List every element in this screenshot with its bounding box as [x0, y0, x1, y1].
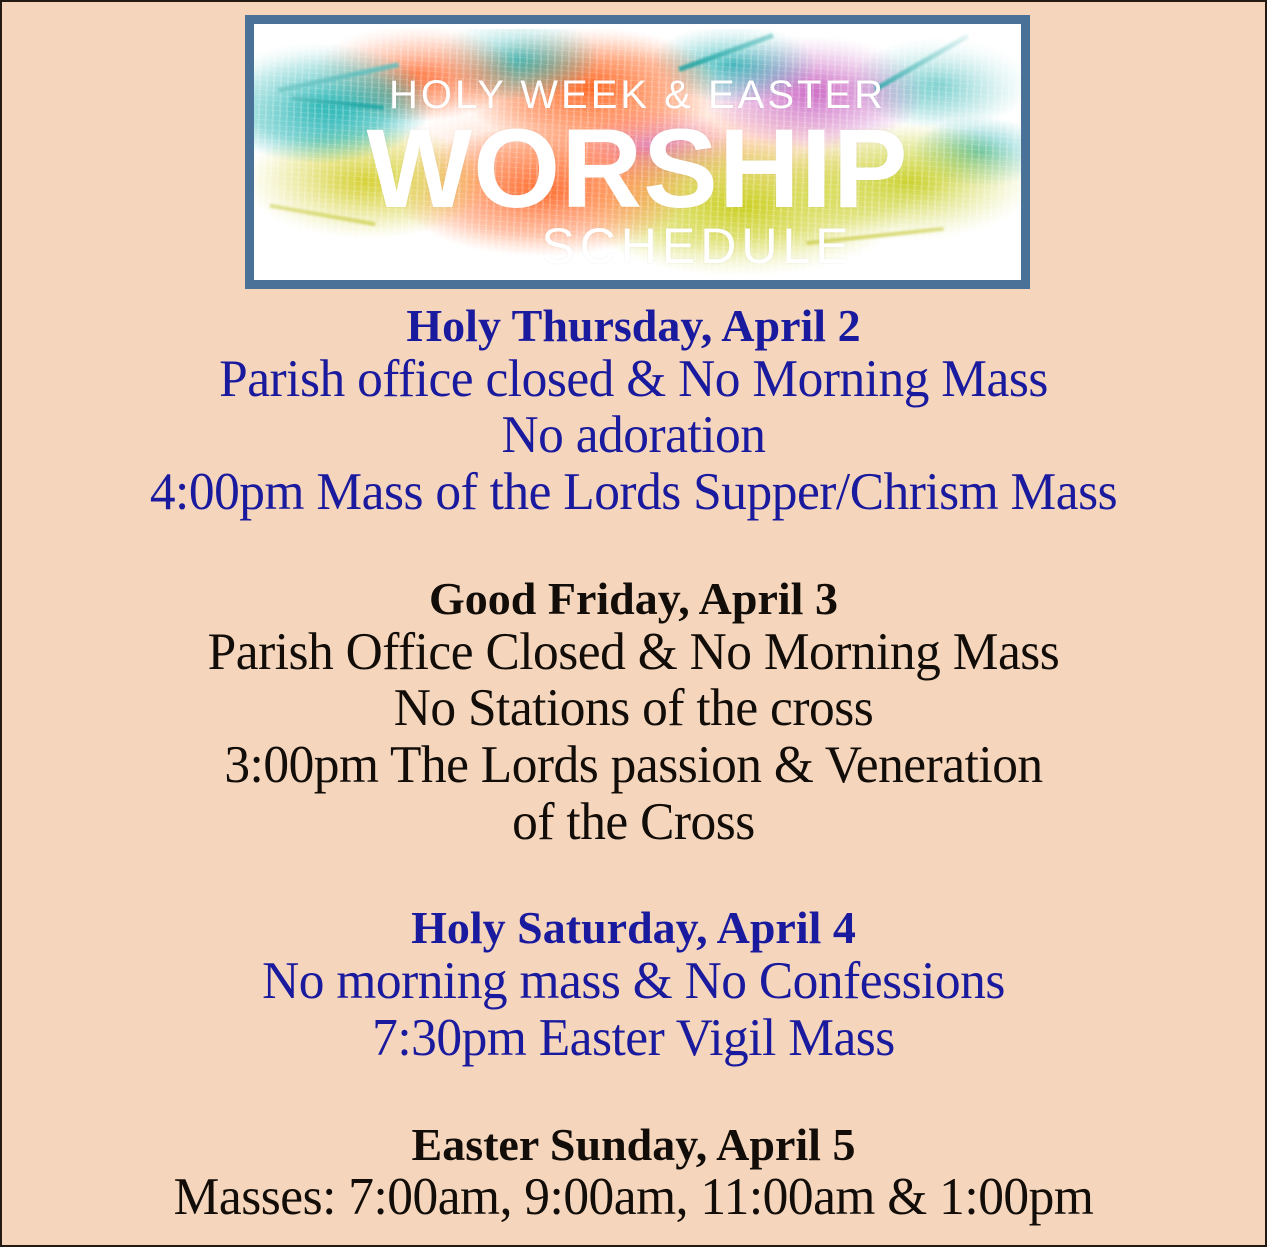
day-title: Holy Saturday, April 4 [2, 904, 1265, 953]
banner-artwork: HOLY WEEK & EASTER WORSHIP SCHEDULE [254, 24, 1021, 280]
schedule-day-holy-thursday: Holy Thursday, April 2 Parish office clo… [2, 302, 1265, 521]
day-detail-line: of the Cross [21, 794, 1246, 851]
day-detail-line: 4:00pm Mass of the Lords Supper/Chrism M… [21, 464, 1246, 521]
banner-title-group: HOLY WEEK & EASTER WORSHIP SCHEDULE [254, 24, 1021, 280]
banner-headline: WORSHIP [366, 117, 908, 220]
banner-subhead: SCHEDULE [541, 221, 853, 271]
schedule-day-easter-sunday: Easter Sunday, April 5 Masses: 7:00am, 9… [2, 1121, 1265, 1226]
day-detail-line: Parish office closed & No Morning Mass [21, 351, 1246, 408]
day-detail-line: No adoration [21, 407, 1246, 464]
day-detail-line: Parish Office Closed & No Morning Mass [21, 624, 1246, 681]
schedule-day-good-friday: Good Friday, April 3 Parish Office Close… [2, 575, 1265, 851]
schedule-day-holy-saturday: Holy Saturday, April 4 No morning mass &… [2, 904, 1265, 1066]
schedule-list: Holy Thursday, April 2 Parish office clo… [2, 302, 1265, 1226]
day-detail-line: 3:00pm The Lords passion & Veneration [21, 737, 1246, 794]
day-detail-line: No Stations of the cross [21, 680, 1246, 737]
day-title: Easter Sunday, April 5 [2, 1121, 1265, 1170]
worship-schedule-flyer: HOLY WEEK & EASTER WORSHIP SCHEDULE Holy… [0, 0, 1267, 1247]
day-detail-line: No morning mass & No Confessions [21, 953, 1246, 1010]
worship-schedule-banner: HOLY WEEK & EASTER WORSHIP SCHEDULE [245, 15, 1030, 289]
day-detail-line: Masses: 7:00am, 9:00am, 11:00am & 1:00pm [21, 1169, 1246, 1226]
day-detail-line: 7:30pm Easter Vigil Mass [21, 1010, 1246, 1067]
day-title: Good Friday, April 3 [2, 575, 1265, 624]
day-title: Holy Thursday, April 2 [2, 302, 1265, 351]
